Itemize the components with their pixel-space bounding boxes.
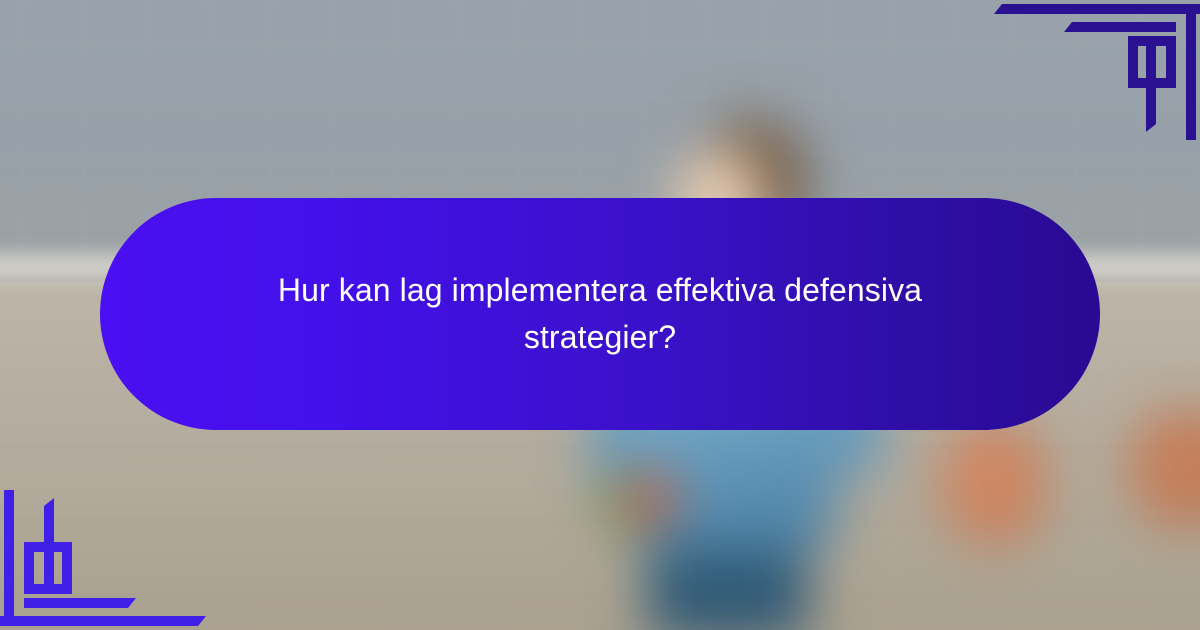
ornament-line-bottom — [0, 616, 206, 626]
headline-text: Hur kan lag implementera effektiva defen… — [210, 267, 990, 360]
corner-ornament-bottom-left — [0, 490, 220, 630]
ornament-drop-vertical — [1146, 36, 1156, 132]
ornament-edge-vertical — [4, 490, 14, 626]
ornament-drop-vertical — [44, 498, 54, 594]
share-card: Hur kan lag implementera effektiva defen… — [0, 0, 1200, 630]
background-blob-red — [624, 470, 680, 528]
ornament-line-second — [24, 598, 136, 608]
ornament-line-top — [994, 4, 1200, 14]
corner-ornament-top-right — [980, 0, 1200, 140]
ornament-line-second — [1064, 22, 1176, 32]
background-blob-orange-center — [940, 420, 1048, 546]
ornament-edge-vertical — [1186, 4, 1196, 140]
headline-banner: Hur kan lag implementera effektiva defen… — [100, 198, 1100, 430]
